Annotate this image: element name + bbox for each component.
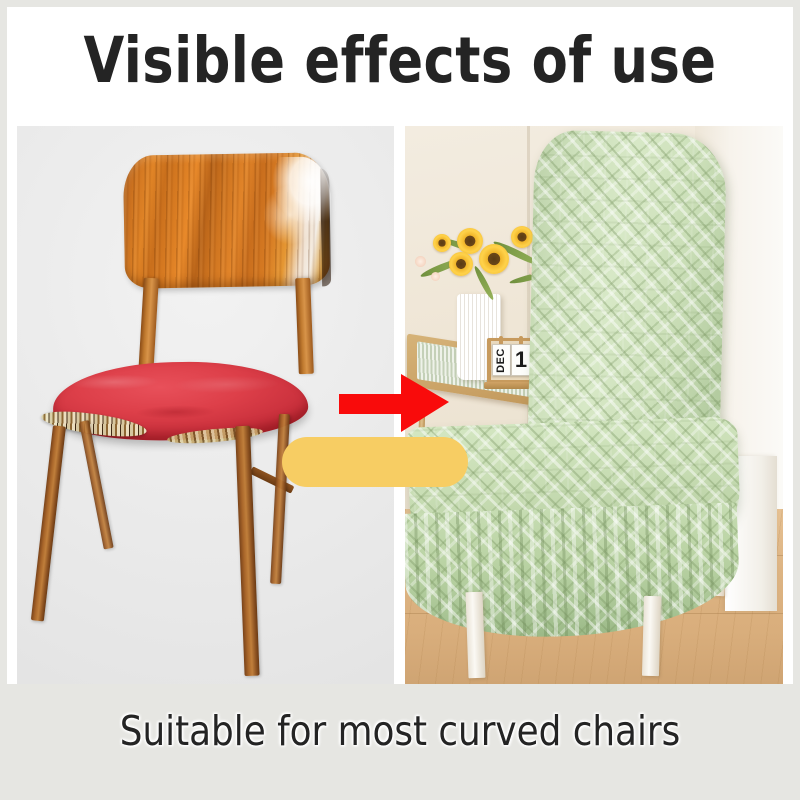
chair-backrest <box>123 152 330 289</box>
sunflower-bloom <box>449 252 473 276</box>
skirt-body <box>405 502 741 642</box>
footer-area: Suitable for most curved chairs <box>7 684 793 793</box>
sunflower-bloom <box>511 226 533 248</box>
calendar-day-tens-card: 1 <box>511 344 531 376</box>
filler-blossom <box>431 272 440 281</box>
sunflower-bloom <box>457 228 483 254</box>
page-title: Visible effects of use <box>35 23 766 99</box>
covered-chair-leg-front-left <box>466 592 486 679</box>
before-photo <box>17 126 394 684</box>
calendar-month-card: DEC <box>492 344 511 376</box>
before-after-comparison: DEC 1 8 <box>7 119 793 684</box>
covered-chair-leg-front-right <box>642 596 661 676</box>
green-chair-cover-skirt <box>405 502 741 642</box>
footer-caption: Suitable for most curved chairs <box>19 706 781 756</box>
filler-blossom <box>415 256 426 267</box>
banner-inner: Visible effects of use <box>7 7 793 793</box>
after-photo: DEC 1 8 <box>405 126 783 684</box>
promo-banner: Visible effects of use <box>0 0 800 800</box>
sunflower-bloom <box>479 244 509 274</box>
skirt-pleats <box>405 502 741 642</box>
header-area: Visible effects of use <box>7 7 793 119</box>
calendar-month-text: DEC <box>496 348 507 373</box>
sunflower-bloom <box>433 234 451 252</box>
